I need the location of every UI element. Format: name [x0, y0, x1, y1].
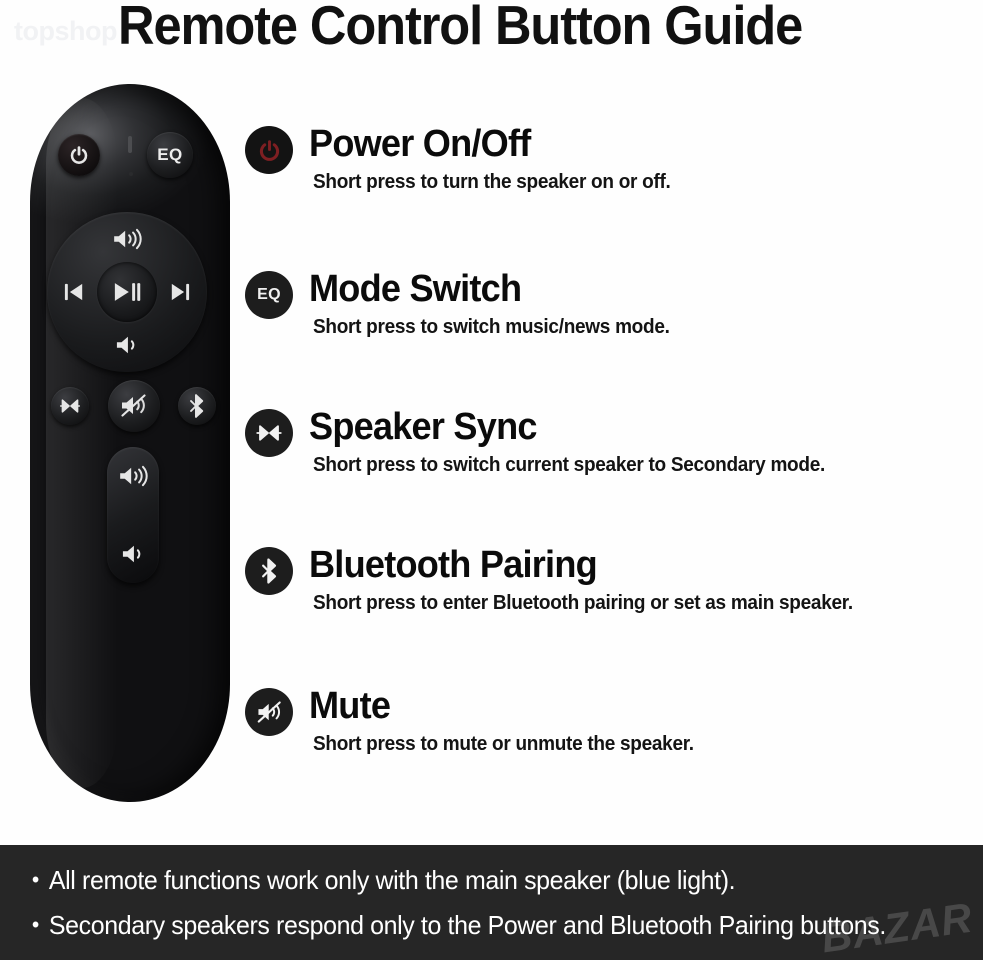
- legend-title: Bluetooth Pairing: [309, 543, 597, 587]
- play-pause-icon: [113, 281, 141, 303]
- legend-title: Power On/Off: [309, 122, 531, 166]
- legend-description: Short press to enter Bluetooth pairing o…: [313, 590, 853, 616]
- eq-icon: EQ: [157, 145, 183, 165]
- led-indicator-icon: [128, 136, 132, 153]
- legend-title: Mode Switch: [309, 267, 521, 311]
- legend-title: Mute: [309, 684, 390, 728]
- previous-track-icon: [63, 282, 85, 302]
- ir-sensor-icon: [129, 172, 133, 176]
- remote-power-button[interactable]: [58, 134, 100, 176]
- volume-up-icon: [118, 465, 148, 487]
- speaker-sync-icon: [59, 399, 81, 413]
- power-icon: [68, 144, 90, 166]
- volume-down-icon: [114, 334, 140, 356]
- remote-mute-button[interactable]: [108, 380, 160, 432]
- notes-band: • All remote functions work only with th…: [0, 845, 983, 960]
- eq-icon-label: EQ: [257, 286, 281, 304]
- bullet-icon: •: [22, 909, 49, 941]
- legend-description: Short press to switch current speaker to…: [313, 452, 825, 478]
- remote-bluetooth-button[interactable]: [178, 387, 216, 425]
- remote-volume-rocker[interactable]: [107, 447, 159, 583]
- remote-dpad[interactable]: [47, 212, 207, 372]
- legend-description: Short press to mute or unmute the speake…: [313, 731, 694, 757]
- legend-title: Speaker Sync: [309, 405, 537, 449]
- speaker-sync-icon: [245, 409, 293, 457]
- button-legend-list: Power On/Off Short press to turn the spe…: [245, 0, 975, 830]
- bluetooth-icon: [245, 547, 293, 595]
- mute-icon: [120, 393, 148, 419]
- mute-icon: [245, 688, 293, 736]
- eq-icon: EQ: [245, 271, 293, 319]
- remote-body: [30, 84, 230, 802]
- page-root: topshop Remote Control Button Guide EQ: [0, 0, 983, 960]
- volume-down-icon: [120, 543, 146, 565]
- remote-volume-down-dpad-button[interactable]: [102, 328, 152, 362]
- power-icon: [245, 126, 293, 174]
- bluetooth-icon: [189, 394, 205, 418]
- next-track-icon: [169, 282, 191, 302]
- remote-eq-button[interactable]: EQ: [147, 132, 193, 178]
- volume-up-icon: [112, 228, 142, 250]
- remote-volume-up-rocker-button[interactable]: [107, 455, 159, 497]
- remote-speaker-sync-button[interactable]: [51, 387, 89, 425]
- legend-description: Short press to turn the speaker on or of…: [313, 169, 671, 195]
- remote-play-pause-button[interactable]: [97, 262, 157, 322]
- remote-volume-down-rocker-button[interactable]: [107, 533, 159, 575]
- remote-control-image: EQ: [30, 84, 230, 802]
- remote-previous-track-button[interactable]: [57, 275, 91, 309]
- topshop-watermark: topshop: [14, 16, 117, 47]
- note-item: • Secondary speakers respond only to the…: [22, 909, 886, 941]
- remote-volume-up-dpad-button[interactable]: [102, 222, 152, 256]
- remote-next-track-button[interactable]: [163, 275, 197, 309]
- note-item: • All remote functions work only with th…: [22, 864, 735, 896]
- legend-description: Short press to switch music/news mode.: [313, 314, 670, 340]
- bazar-watermark: BAZAR: [818, 894, 975, 960]
- note-text: All remote functions work only with the …: [49, 864, 735, 896]
- bullet-icon: •: [22, 864, 49, 896]
- note-text: Secondary speakers respond only to the P…: [49, 909, 886, 941]
